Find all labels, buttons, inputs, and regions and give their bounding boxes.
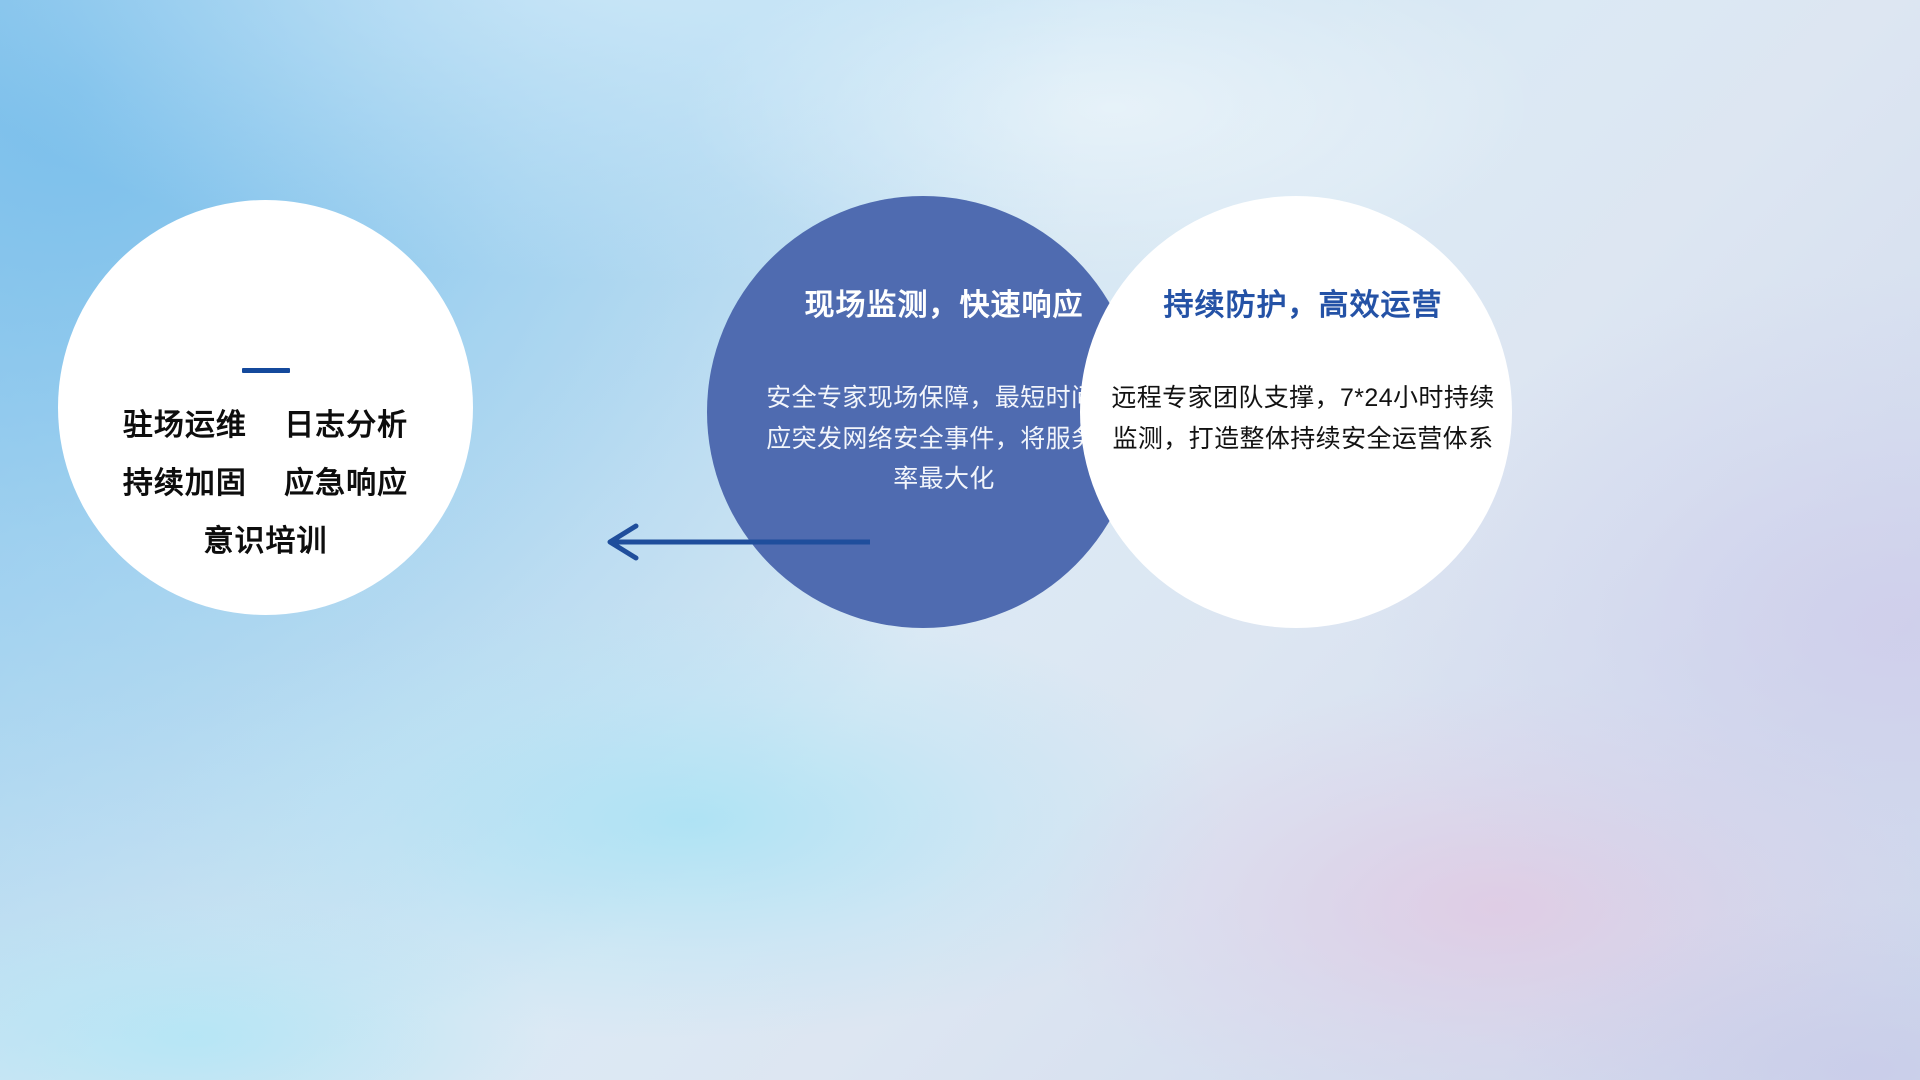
capability-line-2: 持续加固 应急响应	[58, 469, 473, 499]
dash-accent-icon	[242, 368, 290, 373]
continuous-protection-title: 持续防护，高效运营	[1108, 288, 1498, 324]
continuous-protection-circle[interactable]: 持续防护，高效运营 远程专家团队支撑，7*24小时持续监测，打造整体持续安全运营…	[1080, 196, 1512, 628]
slide-canvas: 驻场运维 日志分析 持续加固 应急响应 意识培训 现场监测，快速响应 安全专家现…	[0, 0, 1920, 1080]
continuous-protection-body: 远程专家团队支撑，7*24小时持续监测，打造整体持续安全运营体系	[1108, 378, 1498, 459]
capability-circle-left-content: 驻场运维 日志分析 持续加固 应急响应 意识培训	[58, 368, 473, 557]
onsite-monitoring-title: 现场监测，快速响应	[755, 288, 1133, 324]
onsite-monitoring-body: 安全专家现场保障，最短时间响应突发网络安全事件，将服务效率最大化	[755, 378, 1133, 500]
onsite-monitoring-content: 现场监测，快速响应 安全专家现场保障，最短时间响应突发网络安全事件，将服务效率最…	[755, 288, 1133, 500]
capability-circle-left[interactable]: 驻场运维 日志分析 持续加固 应急响应 意识培训	[58, 200, 473, 615]
capability-line-1: 驻场运维 日志分析	[58, 411, 473, 441]
arrow-left-icon	[600, 520, 870, 564]
capability-line-3: 意识培训	[58, 527, 473, 557]
continuous-protection-content: 持续防护，高效运营 远程专家团队支撑，7*24小时持续监测，打造整体持续安全运营…	[1108, 288, 1498, 459]
